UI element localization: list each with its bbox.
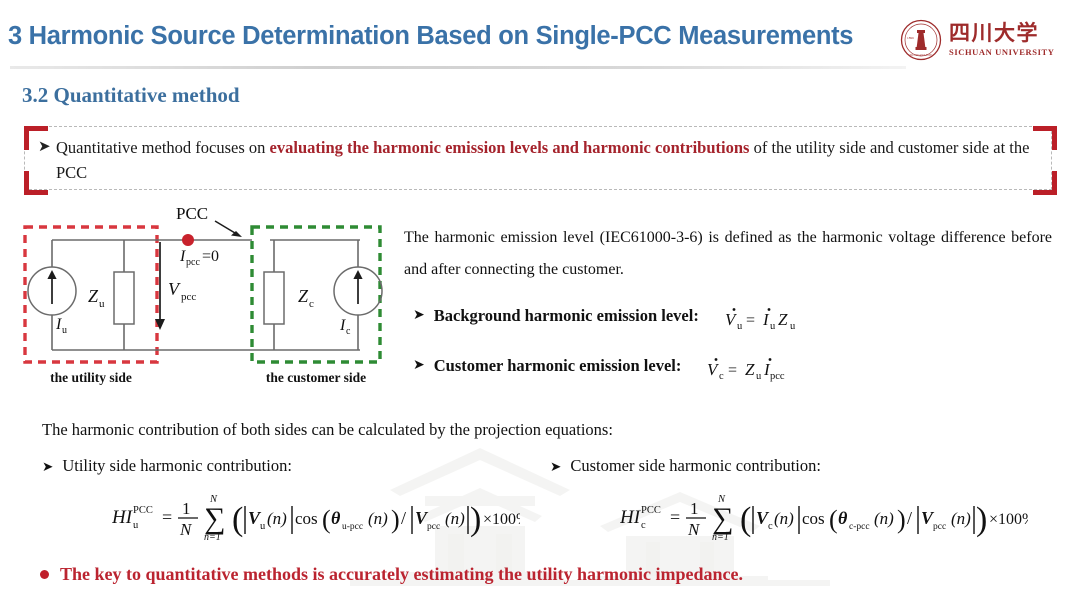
svg-text:θ: θ (331, 508, 341, 528)
customer-emission-equation: V c = Z u I pcc (705, 356, 813, 387)
svg-text:∑: ∑ (712, 502, 733, 535)
utility-side-caption: the utility side (50, 370, 132, 385)
svg-text:(n): (n) (951, 509, 971, 528)
svg-text:Z: Z (778, 310, 788, 329)
svg-text:N: N (209, 494, 218, 505)
ic-label: I (339, 317, 346, 334)
svg-text:n=1: n=1 (204, 532, 221, 543)
customer-current-source (334, 267, 382, 315)
ipcc-value: =0 (202, 248, 219, 265)
utility-current-source (28, 267, 76, 315)
header-divider (10, 66, 906, 69)
svg-text:c: c (641, 520, 646, 531)
svg-text:): ) (976, 501, 987, 538)
svg-text:(n): (n) (874, 509, 894, 528)
customer-contribution-row: ➤ Customer side harmonic contribution: (550, 456, 821, 476)
svg-text:/: / (907, 508, 912, 528)
bullet-icon: ➤ (550, 459, 561, 475)
circuit-diagram: I u I c Z u Z c PCC I pcc =0 V pcc the u… (2, 202, 400, 398)
svg-text:(n): (n) (774, 509, 794, 528)
svg-text:u: u (737, 321, 743, 332)
customer-emission-row: ➤ Customer harmonic emission level: V c … (413, 356, 813, 387)
svg-text:(n): (n) (368, 509, 388, 528)
pcc-label: PCC (176, 204, 208, 223)
background-emission-label: Background harmonic emission level: (434, 306, 699, 326)
callout-text: Quantitative method focuses on evaluatin… (56, 135, 1046, 185)
logo-chinese-name: 四川大学 (949, 23, 1055, 44)
svg-text:pcc: pcc (770, 371, 785, 382)
utility-contribution-formula: HI u PCC = 1 N ∑ N n=1 ( V u (n) cos ( θ… (112, 490, 520, 549)
customer-contribution-formula: HI c PCC = 1 N ∑ N n=1 ( V c (n) cos ( θ… (620, 490, 1028, 549)
svg-text:(n): (n) (267, 509, 287, 528)
svg-text:/: / (401, 508, 406, 528)
svg-text:=: = (746, 312, 755, 329)
svg-text:(: ( (740, 501, 751, 538)
background-emission-row: ➤ Background harmonic emission level: V … (413, 306, 819, 337)
pcc-node (182, 234, 194, 246)
svg-text:1896: 1896 (907, 36, 914, 40)
zc-sub: c (309, 298, 314, 310)
svg-text:): ) (897, 505, 906, 534)
definition-text: The harmonic emission level (IEC61000-3-… (404, 222, 1052, 286)
svg-text:×100%: ×100% (483, 511, 520, 528)
callout-text-part1: Quantitative method focuses on (56, 138, 270, 157)
key-statement-row: The key to quantitative methods is accur… (40, 564, 743, 585)
ipcc-label: I (179, 248, 186, 265)
svg-text:c: c (768, 521, 773, 532)
customer-contribution-label: Customer side harmonic contribution: (570, 456, 821, 476)
university-seal-icon: SICHUAN UNIV. 1896 (900, 19, 942, 61)
contribution-lead-text: The harmonic contribution of both sides … (42, 420, 613, 440)
svg-text:1: 1 (182, 499, 191, 518)
svg-text:pcc: pcc (933, 522, 946, 532)
callout-text-highlight: evaluating the harmonic emission levels … (270, 138, 750, 157)
customer-emission-label: Customer harmonic emission level: (434, 356, 682, 376)
svg-text:Z: Z (745, 360, 755, 379)
ic-sub: c (346, 326, 351, 337)
utility-contribution-row: ➤ Utility side harmonic contribution: (42, 456, 292, 476)
vpcc-label: V (168, 279, 181, 299)
svg-text:): ) (391, 505, 400, 534)
zc-label: Z (298, 286, 309, 306)
svg-text:u: u (770, 321, 776, 332)
svg-text:1: 1 (690, 499, 699, 518)
svg-text:n=1: n=1 (712, 532, 729, 543)
zc-impedance (264, 272, 284, 324)
bullet-icon: ➤ (42, 459, 53, 475)
svg-text:u: u (133, 520, 139, 531)
svg-text:PCC: PCC (641, 505, 661, 516)
svg-text:u: u (790, 321, 796, 332)
sichuan-university-logo: SICHUAN UNIV. 1896 四川大学 SICHUAN UNIVERSI… (900, 16, 1072, 64)
key-statement-text: The key to quantitative methods is accur… (60, 564, 743, 585)
page-title: 3 Harmonic Source Determination Based on… (8, 22, 888, 51)
callout-bullet-icon: ➤ (38, 137, 51, 156)
svg-text:∑: ∑ (204, 502, 225, 535)
svg-text:pcc: pcc (427, 522, 440, 532)
svg-text:c: c (719, 371, 724, 382)
svg-text:×100%: ×100% (989, 511, 1028, 528)
svg-text:): ) (470, 501, 481, 538)
svg-text:u-pcc: u-pcc (342, 522, 363, 532)
svg-text:u: u (260, 521, 266, 532)
svg-text:cos: cos (295, 509, 318, 528)
svg-text:=: = (728, 362, 737, 379)
svg-text:N: N (687, 520, 701, 539)
iu-sub: u (62, 325, 67, 336)
svg-text:(: ( (829, 505, 838, 534)
zu-sub: u (99, 298, 105, 310)
svg-text:HI: HI (620, 507, 642, 528)
iu-label: I (55, 316, 62, 333)
svg-text:SICHUAN UNIV.: SICHUAN UNIV. (910, 53, 933, 57)
section-heading: 3.2 Quantitative method (22, 83, 240, 108)
svg-text:(: ( (322, 505, 331, 534)
svg-text:cos: cos (802, 509, 825, 528)
key-statement-bullet-icon (40, 570, 49, 579)
svg-text:c-pcc: c-pcc (849, 522, 870, 532)
svg-text:(n): (n) (445, 509, 465, 528)
bullet-icon: ➤ (413, 356, 425, 376)
logo-english-name: SICHUAN UNIVERSITY (949, 47, 1055, 57)
vpcc-sub: pcc (181, 291, 196, 303)
background-emission-equation: V u = I u Z u (723, 306, 819, 337)
customer-side-caption: the customer side (266, 370, 366, 385)
utility-contribution-label: Utility side harmonic contribution: (62, 456, 292, 476)
svg-text:=: = (162, 507, 172, 527)
svg-text:HI: HI (112, 507, 134, 528)
svg-text:u: u (756, 371, 762, 382)
svg-text:θ: θ (838, 508, 848, 528)
zu-label: Z (88, 286, 99, 306)
bullet-icon: ➤ (413, 306, 425, 326)
svg-text:(: ( (232, 501, 243, 538)
zu-impedance (114, 272, 134, 324)
svg-text:I: I (762, 310, 770, 329)
svg-text:N: N (717, 494, 726, 505)
ipcc-sub: pcc (186, 257, 200, 268)
svg-text:PCC: PCC (133, 505, 153, 516)
svg-text:N: N (179, 520, 193, 539)
callout-corner-bottom-left (24, 171, 48, 195)
svg-text:=: = (670, 507, 680, 527)
